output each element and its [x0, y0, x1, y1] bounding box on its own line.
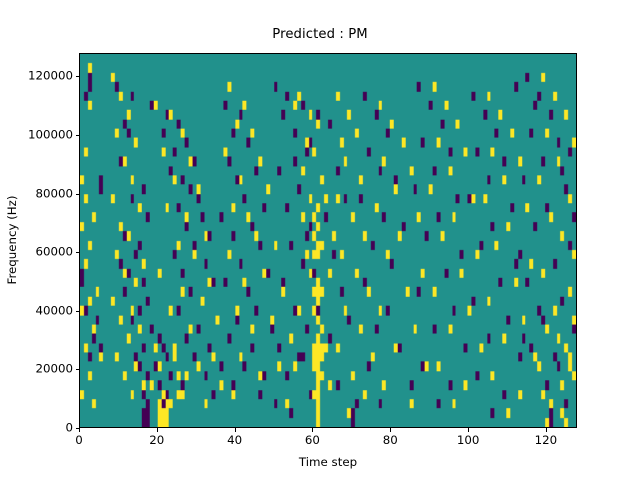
y-tick-label: 20000 — [0, 363, 73, 376]
x-tick-label: 40 — [227, 434, 242, 447]
x-tick-mark — [157, 428, 158, 432]
x-tick-mark — [312, 428, 313, 432]
x-tick-mark — [235, 428, 236, 432]
x-tick-label: 100 — [457, 434, 480, 447]
x-tick-label: 80 — [383, 434, 398, 447]
x-tick-mark — [546, 428, 547, 432]
y-tick-label: 0 — [0, 422, 73, 435]
y-tick-mark — [76, 194, 80, 195]
heatmap-canvas — [80, 54, 576, 427]
x-tick-mark — [79, 428, 80, 432]
y-tick-mark — [76, 369, 80, 370]
y-tick-label: 120000 — [0, 70, 73, 83]
y-tick-mark — [76, 252, 80, 253]
x-tick-label: 120 — [535, 434, 558, 447]
x-tick-mark — [390, 428, 391, 432]
y-tick-mark — [76, 428, 80, 429]
x-tick-mark — [468, 428, 469, 432]
y-tick-mark — [76, 135, 80, 136]
x-axis-label: Time step — [79, 455, 577, 469]
x-tick-label: 20 — [149, 434, 164, 447]
chart-title: Predicted : PM — [0, 27, 640, 43]
x-tick-label: 60 — [305, 434, 320, 447]
heatmap-axes — [79, 53, 577, 428]
y-tick-mark — [76, 76, 80, 77]
matplotlib-figure: Predicted : PM 020406080100120 020000400… — [0, 0, 640, 480]
y-tick-mark — [76, 311, 80, 312]
x-tick-label: 0 — [75, 434, 83, 447]
y-axis-label: Frequency (Hz) — [5, 140, 19, 340]
